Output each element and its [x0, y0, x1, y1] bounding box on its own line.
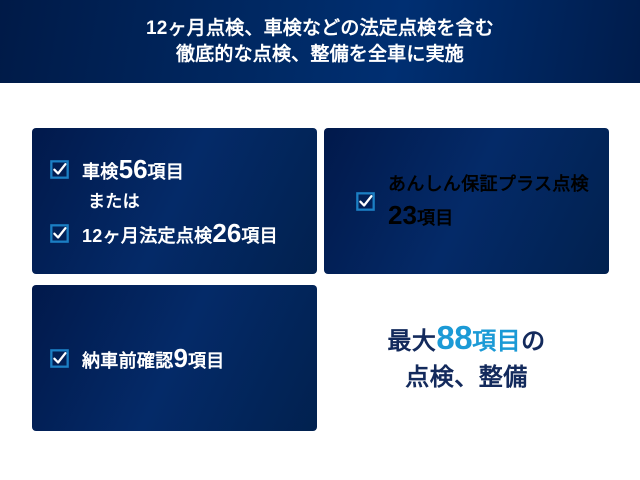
header-title-line-2: 徹底的な点検、整備を全車に実施: [176, 42, 464, 68]
warranty-text-stack: あんしん保証プラス点検 23項目: [388, 175, 589, 228]
row-text: 車検: [82, 162, 119, 182]
summary-total-items: 最大88項目の 点検、整備: [324, 285, 609, 431]
list-item-label: 車検56項目: [82, 156, 184, 182]
connector-label: または: [88, 193, 140, 210]
checkbox-checked-icon: [50, 224, 69, 243]
checkbox-checked-icon: [50, 349, 69, 368]
summary-line-2: 点検、整備: [405, 363, 528, 393]
warranty-title: あんしん保証プラス点検: [388, 175, 589, 193]
warranty-suffix: 項目: [417, 208, 454, 228]
card-statutory-inspection-rows: 車検56項目 または 12ヶ月法定点検26項目: [32, 128, 317, 274]
list-item: 納車前確認9項目: [50, 342, 317, 374]
row-number: 9: [174, 343, 188, 373]
card-predelivery-rows: 納車前確認9項目: [32, 285, 317, 431]
list-item: 12ヶ月法定点検26項目: [50, 217, 317, 249]
card-predelivery-check: 納車前確認9項目: [32, 285, 317, 431]
summary-particle: の: [521, 328, 546, 355]
row-text: 納車前確認: [82, 351, 174, 371]
summary-number: 88: [436, 319, 472, 356]
card-warranty-plus-inspection: あんしん保証プラス点検 23項目: [324, 128, 609, 274]
row-suffix: 項目: [188, 351, 225, 371]
summary-prefix: 最大: [387, 328, 436, 355]
warranty-count: 23項目: [388, 202, 589, 228]
row-number: 56: [119, 154, 148, 184]
list-item: 車検56項目: [50, 153, 317, 185]
checkbox-checked-icon: [356, 192, 375, 211]
row-suffix: 項目: [148, 162, 185, 182]
checkbox-checked-icon: [50, 160, 69, 179]
list-item-label: 納車前確認9項目: [82, 345, 225, 371]
list-item-connector: または: [50, 185, 317, 217]
header-banner: 12ヶ月点検、車検などの法定点検を含む 徹底的な点検、整備を全車に実施: [0, 0, 640, 83]
card-statutory-inspection: 車検56項目 または 12ヶ月法定点検26項目: [32, 128, 317, 274]
row-suffix: 項目: [241, 226, 278, 246]
header-title-line-1: 12ヶ月点検、車検などの法定点検を含む: [146, 16, 494, 42]
warranty-number: 23: [388, 200, 417, 230]
list-item-label: 12ヶ月法定点検26項目: [82, 220, 278, 246]
row-text: 12ヶ月法定点検: [82, 226, 212, 246]
summary-line-1: 最大88項目の: [387, 323, 545, 357]
summary-unit: 項目: [472, 328, 521, 355]
row-number: 26: [212, 218, 241, 248]
card-warranty-plus-rows: あんしん保証プラス点検 23項目: [324, 128, 609, 274]
